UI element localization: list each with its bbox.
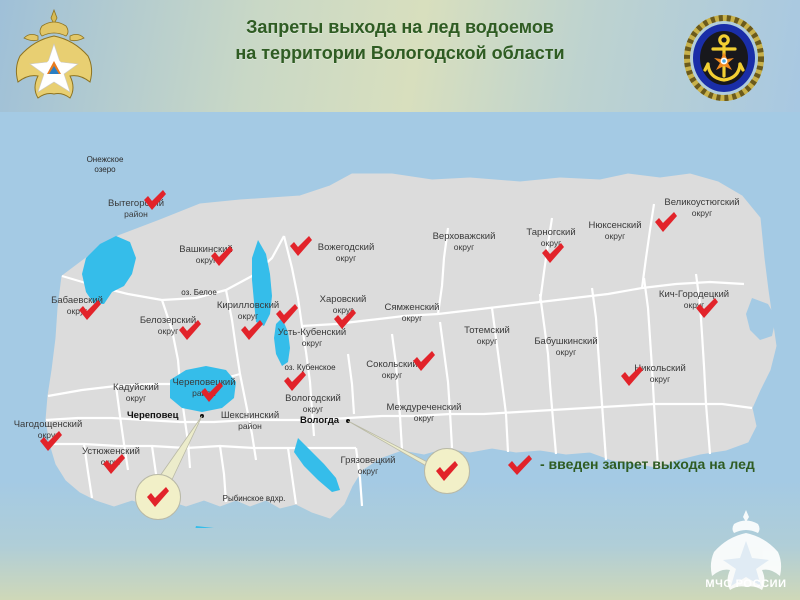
ban-check-icon-tarnogsky: [540, 242, 566, 264]
ban-check-icon-belozersky: [177, 319, 203, 341]
ban-check-icon-ustyuzhensky: [101, 453, 127, 475]
reservoir-rybinskoe: [192, 526, 290, 528]
ban-check-icon-vologodsky: [282, 370, 308, 392]
ban-check-icon-babaevsky: [77, 299, 103, 321]
gims-anchor-emblem: [676, 14, 772, 102]
title-line-2: на территории Вологодской области: [150, 40, 650, 66]
ban-check-icon-kirillovsky: [239, 319, 265, 341]
ban-check-icon-kich-gorodetsky: [694, 297, 720, 319]
ban-check-icon-vytegorsky: [142, 189, 168, 211]
lake-name-2: озеро: [87, 165, 124, 175]
red-check-icon: [506, 454, 534, 476]
ban-check-icon-vologda: [433, 460, 461, 482]
infographic-poster: Запреты выхода на лед водоемов на террит…: [0, 0, 800, 600]
city-dot-cherepovets: [200, 414, 204, 418]
ban-check-icon-cherepovets: [144, 486, 172, 508]
lake-name: Онежское: [87, 155, 124, 165]
lake-label-kubenskoe: оз. Кубенское: [284, 363, 335, 373]
lake-label-rybinskoe: Рыбинское вдхр.: [223, 494, 286, 504]
lake-label-onezhskoe: Онежскоеозеро: [87, 155, 124, 174]
ban-check-icon-vashkinsky: [209, 245, 235, 267]
ban-check-icon-sokolsky: [411, 350, 437, 372]
lake-label-beloe: оз. Белое: [181, 288, 217, 298]
footer-caption: МЧС РОССИИ: [686, 578, 800, 590]
emercom-eagle-emblem: [8, 6, 100, 106]
lake-name: оз. Кубенское: [284, 363, 335, 373]
ban-check-icon-vozhegodsky: [288, 235, 314, 257]
title-line-1: Запреты выхода на лед водоемов: [150, 14, 650, 40]
ban-check-icon-kharovsky: [332, 308, 358, 330]
city-label-vologda: Вологда: [300, 415, 339, 426]
lake-name: Рыбинское вдхр.: [223, 494, 286, 504]
legend-label: - введен запрет выхода на лед: [540, 452, 772, 476]
lake-name: оз. Белое: [181, 288, 217, 298]
ban-check-icon-cherepovetsky: [199, 381, 225, 403]
city-callout-cherepovets: [135, 474, 181, 520]
page-title: Запреты выхода на лед водоемов на террит…: [150, 14, 650, 66]
city-label-cherepovets: Череповец: [127, 410, 178, 421]
ban-check-icon-nikolsky: [619, 365, 645, 387]
ban-check-icon-chagodoshchensky: [38, 430, 64, 452]
city-dot-vologda: [346, 419, 350, 423]
city-callout-vologda: [424, 448, 470, 494]
ban-check-icon-velikoustyugsky: [653, 211, 679, 233]
ban-check-icon-ust-kubensky: [274, 303, 300, 325]
